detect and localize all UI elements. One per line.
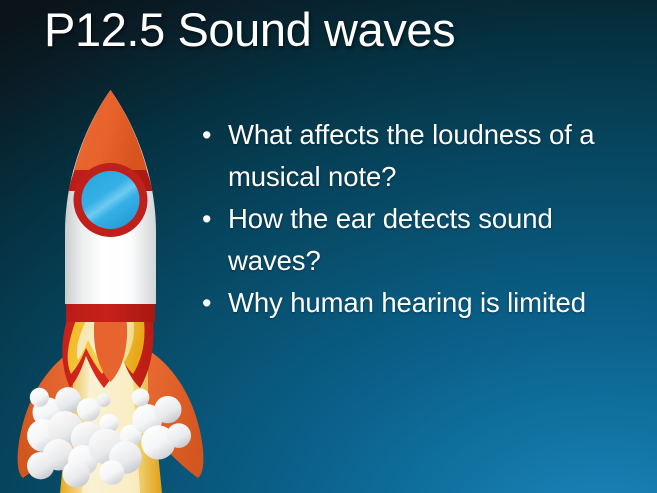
window-glass — [82, 171, 140, 229]
bullet-text-3: Why human hearing is limited — [228, 282, 618, 324]
bullet-marker: • — [198, 114, 228, 156]
bullet-item-3: • Why human hearing is limited — [198, 282, 618, 324]
smoke-bubble — [166, 423, 191, 448]
smoke-bubble — [100, 460, 125, 485]
presentation-slide: P12.5 Sound waves • What affects the lou… — [0, 0, 657, 493]
rocket-nose-cone — [74, 90, 147, 170]
smoke-bubble — [154, 396, 181, 423]
smoke-bubble — [27, 452, 54, 479]
smoke-bubble — [132, 388, 150, 406]
smoke-bubble — [77, 398, 100, 421]
smoke-cloud-illustration — [0, 370, 240, 493]
bullet-item-2: • How the ear detects sound waves? — [198, 198, 618, 282]
bullet-text-2: How the ear detects sound waves? — [228, 198, 618, 282]
smoke-bubble — [30, 388, 49, 407]
slide-title: P12.5 Sound waves — [44, 2, 455, 57]
smoke-bubble — [63, 460, 90, 487]
bullet-text-1: What affects the loudness of a musical n… — [228, 114, 618, 198]
bullet-marker: • — [198, 198, 228, 240]
smoke-bubbles — [27, 387, 191, 487]
bullet-item-1: • What affects the loudness of a musical… — [198, 114, 618, 198]
slide-bullet-list: • What affects the loudness of a musical… — [198, 114, 618, 324]
bullet-marker: • — [198, 282, 228, 324]
smoke-bubble — [97, 393, 111, 407]
